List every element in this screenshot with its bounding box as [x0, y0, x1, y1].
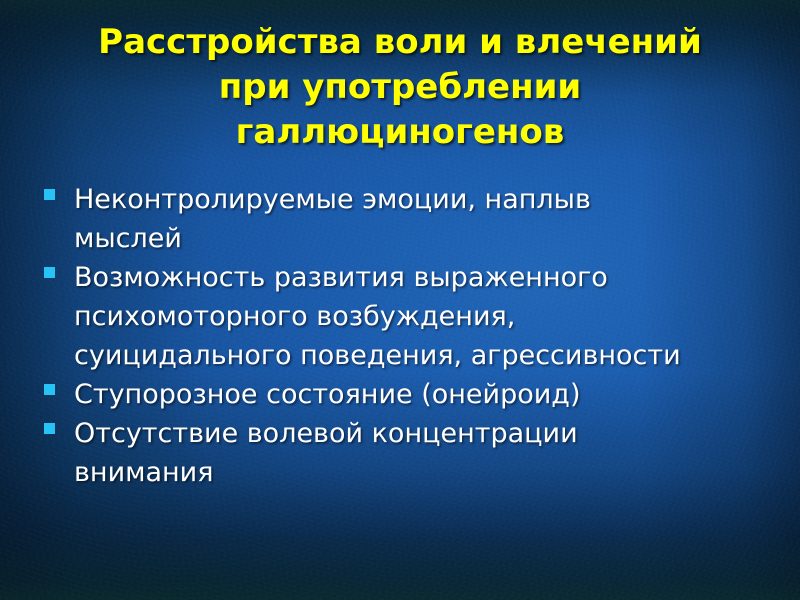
slide-title-line-3: галлюциногенов	[40, 110, 760, 155]
presentation-slide: Расстройства воли и влечений при употреб…	[0, 0, 800, 600]
slide-title-line-1: Расстройства воли и влечений	[40, 20, 760, 65]
bullet-text-2: Возможность развития выраженного психомо…	[74, 258, 682, 375]
bullet-text-4: Отсутствие волевой концентрации внимания	[74, 414, 682, 492]
slide-title-line-2: при употреблении	[40, 65, 760, 110]
square-bullet-icon	[44, 423, 55, 434]
square-bullet-icon	[44, 189, 55, 200]
square-bullet-icon	[44, 384, 55, 395]
bullet-text-1: Неконтролируемые эмоции, наплыв мыслей	[74, 180, 682, 258]
list-item: Ступорозное состояние (онейроид)	[44, 375, 744, 414]
list-item: Неконтролируемые эмоции, наплыв мыслей	[44, 180, 744, 258]
slide-bullet-list: Неконтролируемые эмоции, наплыв мыслей В…	[44, 180, 744, 492]
list-item: Возможность развития выраженного психомо…	[44, 258, 744, 375]
slide-title: Расстройства воли и влечений при употреб…	[40, 20, 760, 155]
square-bullet-icon	[44, 267, 55, 278]
bullet-text-3: Ступорозное состояние (онейроид)	[74, 375, 682, 414]
list-item: Отсутствие волевой концентрации внимания	[44, 414, 744, 492]
